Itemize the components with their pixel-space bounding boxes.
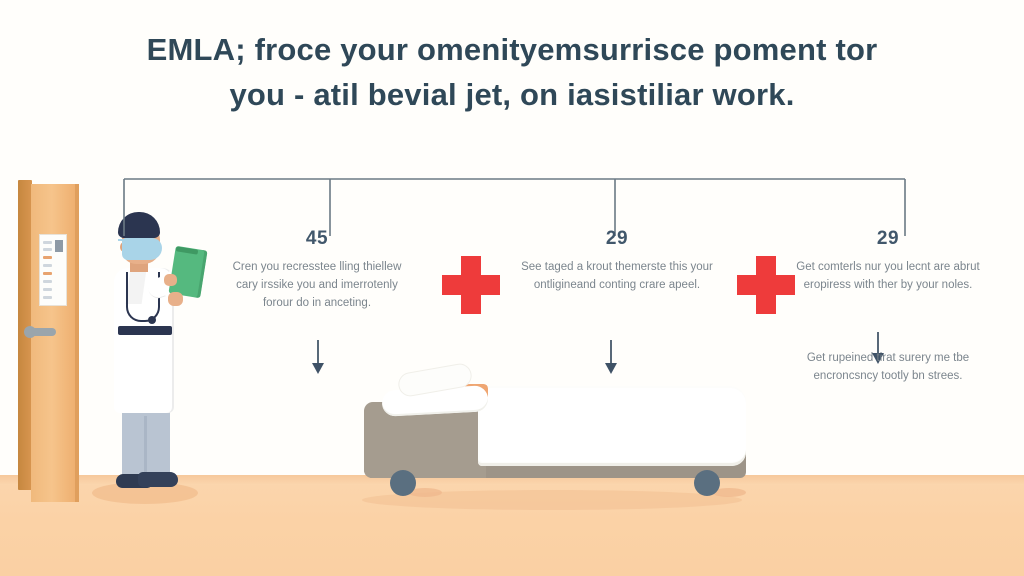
stat-body-3-secondary: Get rupeined tirat surery me tbe encronc… [790,350,986,386]
page-title: EMLA; froce your omenityemsurrisce pomen… [96,28,928,118]
stat-column-3: 29 Get comterls nur you lecnt are abrut … [790,228,986,295]
doctor-belt [118,326,172,335]
hospital-bed [352,358,754,518]
stat-body-1: Cren you recresstee lling thiellew cary … [222,259,412,312]
bed-wheel-left [390,470,416,496]
door-handle-icon [30,328,56,336]
stat-number-2: 29 [520,228,714,250]
infographic-canvas: EMLA; froce your omenityemsurrisce pomen… [0,0,1024,576]
door-edge [75,184,79,502]
stat-body-3: Get comterls nur you lecnt are abrut ero… [790,259,986,295]
medical-cross-icon-1 [442,256,500,314]
doctor-hand-upper [164,274,177,286]
doctor-figure [92,210,202,510]
face-mask-strap [118,239,126,241]
doctor-hair [118,212,160,238]
trouser-seam [144,416,147,480]
stat-column-1: 45 Cren you recresstee lling thiellew ca… [222,228,412,312]
clipboard-icon [168,246,207,298]
stethoscope-bell-icon [148,316,156,324]
stat-number-3: 29 [790,228,986,250]
bed-blanket [480,388,746,462]
stat-number-1: 45 [222,228,412,250]
doctor-shoe-right [138,472,178,487]
medical-cross-icon-2 [737,256,795,314]
hospital-door [18,180,80,510]
stat-column-2: 29 See taged a krout themerste this your… [520,228,714,295]
title-line-2: you - atil bevial jet, on iasistiliar wo… [96,73,928,118]
door-panel [31,184,77,502]
title-line-1: EMLA; froce your omenityemsurrisce pomen… [147,32,878,67]
stat-body-2: See taged a krout themerste this your on… [520,259,714,295]
stat-column-3-secondary: Get rupeined tirat surery me tbe encronc… [790,350,986,386]
bed-wheel-right [694,470,720,496]
doctor-hand-lower [168,292,183,306]
wall-chart-icon [39,234,67,306]
face-mask-icon [122,238,162,260]
